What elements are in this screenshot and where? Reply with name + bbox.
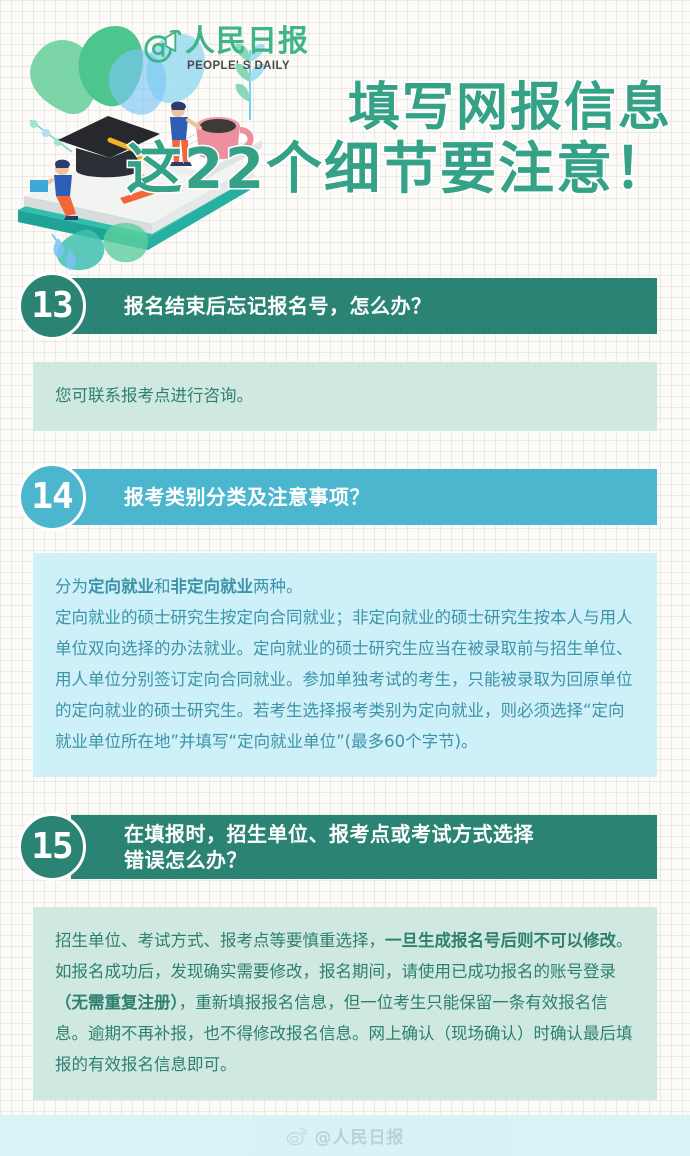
- faq-answer-paragraph-14-1: 分为定向就业和非定向就业两种。: [55, 571, 635, 602]
- faq-number-badge-15: 15: [18, 813, 86, 881]
- poster-header: 人民日报 PEOPLE' S DAILY 填写网报信息 这22个细节要注意！: [0, 0, 690, 272]
- faq-answer-13: 您可联系报考点进行咨询。: [33, 362, 657, 431]
- text-part: 和: [154, 577, 171, 596]
- faq-number-13: 13: [31, 288, 72, 324]
- text-part: 分为: [55, 577, 88, 596]
- faq-question-line-1: 在填报时，招生单位、报考点或考试方式选择: [124, 821, 534, 847]
- spacer: [0, 340, 690, 362]
- faq-answer-paragraph-13: 您可联系报考点进行咨询。: [55, 380, 635, 411]
- faq-answer-paragraph-14-2: 定向就业的硕士研究生按定向合同就业；非定向就业的硕士研究生按本人与用人单位双向选…: [55, 602, 635, 757]
- faq-question-bar-14: 报考类别分类及注意事项？: [71, 469, 657, 525]
- poster-title: 填写网报信息 这22个细节要注意！: [126, 78, 672, 202]
- footer-handle: @人民日报: [315, 1123, 405, 1148]
- faq-section-14: 报考类别分类及注意事项？ 14 分为定向就业和非定向就业两种。 定向就业的硕士研…: [0, 463, 690, 777]
- title-line-2: 这22个细节要注意！: [126, 138, 672, 202]
- peoples-daily-logo: 人民日报 PEOPLE' S DAILY: [143, 24, 295, 80]
- spacer: [0, 777, 690, 809]
- faq-question-line-2: 错误怎么办？: [124, 847, 534, 873]
- logo-english-name: PEOPLE' S DAILY: [187, 60, 290, 72]
- faq-header-15: 在填报时，招生单位、报考点或考试方式选择 错误怎么办？ 15: [18, 809, 657, 885]
- faq-header-13: 报名结束后忘记报名号，怎么办？ 13: [18, 272, 657, 340]
- faq-question-bar-15: 在填报时，招生单位、报考点或考试方式选择 错误怎么办？: [71, 815, 657, 879]
- faq-question-text-15: 在填报时，招生单位、报考点或考试方式选择 错误怎么办？: [124, 821, 534, 873]
- faq-header-14: 报考类别分类及注意事项？ 14: [18, 463, 657, 531]
- faq-answer-paragraph-15: 招生单位、考试方式、报考点等要慎重选择，一旦生成报名号后则不可以修改。如报名成功…: [55, 925, 635, 1080]
- faq-section-13: 报名结束后忘记报名号，怎么办？ 13 您可联系报考点进行咨询。: [0, 272, 690, 431]
- spacer: [0, 431, 690, 463]
- at-megaphone-icon: [143, 30, 181, 68]
- spacer: [0, 531, 690, 553]
- faq-number-badge-14: 14: [18, 463, 86, 531]
- footer-watermark: @人民日报: [0, 1115, 690, 1156]
- poster-page: 人民日报 PEOPLE' S DAILY 填写网报信息 这22个细节要注意！ 报…: [0, 0, 690, 1156]
- faq-question-bar-13: 报名结束后忘记报名号，怎么办？: [71, 278, 657, 334]
- faq-number-badge-13: 13: [18, 272, 86, 340]
- bold-term-directed-employment: 定向就业: [88, 577, 154, 596]
- faq-answer-15: 招生单位、考试方式、报考点等要慎重选择，一旦生成报名号后则不可以修改。如报名成功…: [33, 907, 657, 1100]
- bold-term-non-directed-employment: 非定向就业: [171, 577, 254, 596]
- title-line-1: 填写网报信息: [126, 78, 672, 138]
- faq-number-14: 14: [31, 479, 72, 515]
- bold-warning-no-modify: 一旦生成报名号后则不可以修改: [385, 931, 616, 950]
- spacer: [0, 885, 690, 907]
- weibo-icon: [286, 1125, 308, 1147]
- bold-note-no-reregister: （无需重复注册）: [55, 993, 179, 1012]
- text-part: 两种。: [253, 577, 303, 596]
- faq-answer-14: 分为定向就业和非定向就业两种。 定向就业的硕士研究生按定向合同就业；非定向就业的…: [33, 553, 657, 777]
- logo-chinese-name: 人民日报: [185, 26, 309, 58]
- text-part: 招生单位、考试方式、报考点等要慎重选择，: [55, 931, 385, 950]
- faq-number-15: 15: [31, 829, 72, 865]
- faq-question-text-13: 报名结束后忘记报名号，怎么办？: [124, 293, 432, 319]
- faq-question-text-14: 报考类别分类及注意事项？: [124, 484, 370, 510]
- faq-section-15: 在填报时，招生单位、报考点或考试方式选择 错误怎么办？ 15 招生单位、考试方式…: [0, 809, 690, 1100]
